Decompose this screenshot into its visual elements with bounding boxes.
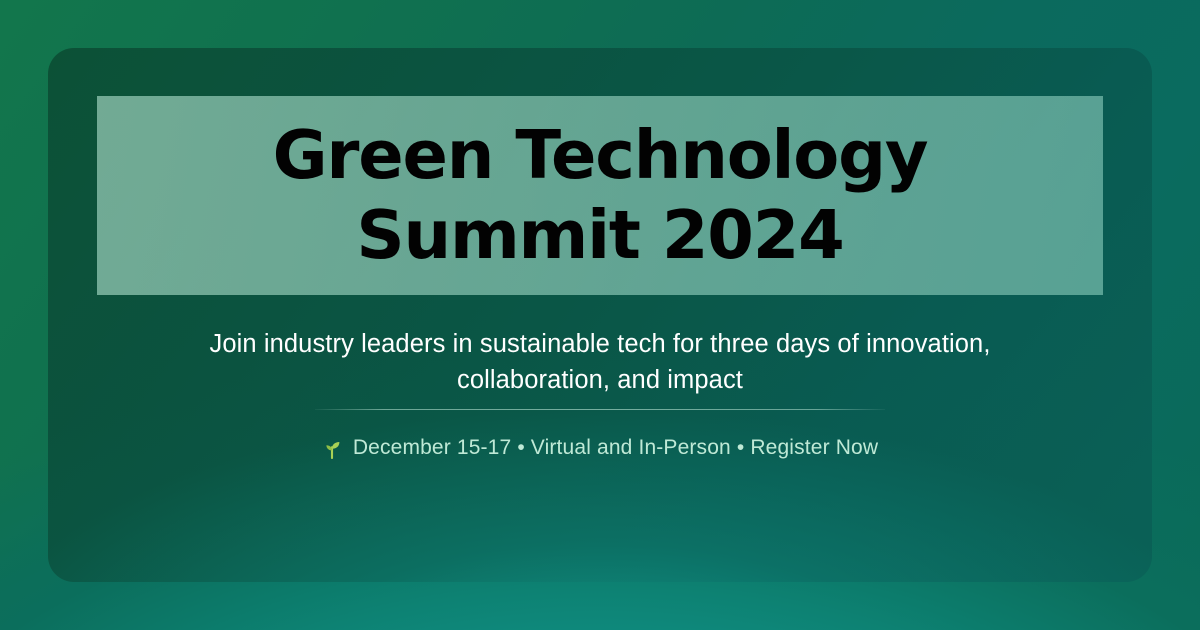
poster-meta-text: December 15-17 • Virtual and In-Person •… [353,436,878,460]
divider [315,409,885,410]
page-title: Green Technology Summit 2024 [273,116,928,274]
poster-canvas: Green Technology Summit 2024 Join indust… [0,0,1200,630]
seedling-icon [322,437,342,459]
poster-subtitle: Join industry leaders in sustainable tec… [133,326,1067,398]
poster-card: Green Technology Summit 2024 Join indust… [48,48,1152,582]
title-banner: Green Technology Summit 2024 [97,96,1103,295]
poster-meta-row: December 15-17 • Virtual and In-Person •… [48,436,1152,460]
